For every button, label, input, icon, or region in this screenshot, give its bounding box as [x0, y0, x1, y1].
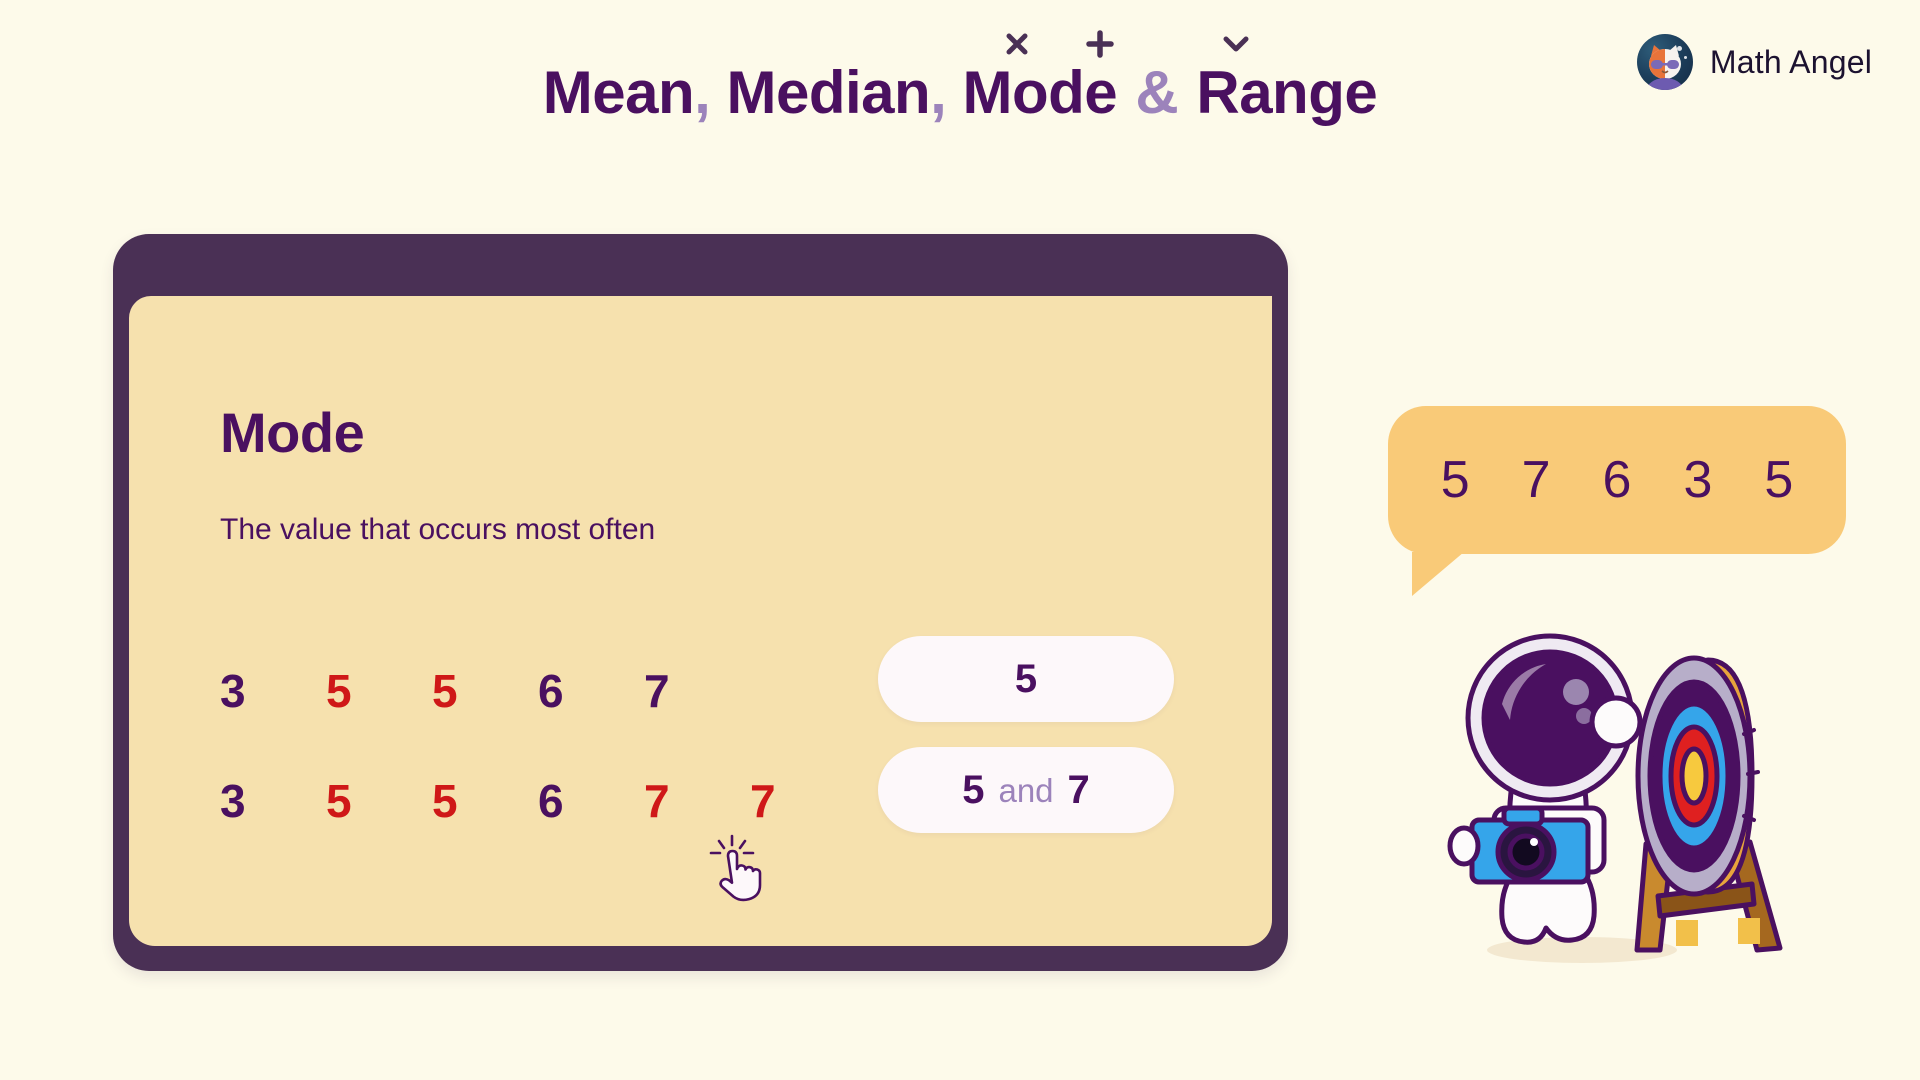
title-ampersand: & [1133, 59, 1180, 126]
number-cell: 6 [538, 778, 644, 824]
lesson-card [113, 234, 1288, 971]
bubble-digit: 7 [1522, 454, 1551, 506]
title-comma-2: , [930, 59, 946, 126]
number-cell: 7 [750, 778, 856, 824]
title-comma-1: , [694, 59, 710, 126]
title-word-median: Median [726, 59, 930, 126]
lesson-heading: Mode [220, 400, 364, 465]
lesson-definition: The value that occurs most often [220, 513, 655, 547]
plus-icon [1084, 28, 1116, 60]
answer-value: 5 [1015, 659, 1037, 699]
brand-logo[interactable]: Math Angel [1637, 34, 1872, 90]
answer-pill[interactable]: 5 and 7 [878, 747, 1174, 833]
bubble-digit: 3 [1683, 454, 1712, 506]
number-cell: 3 [220, 778, 326, 824]
number-cell: 5 [432, 778, 538, 824]
page-title: Mean, Median, Mode & Range [0, 58, 1920, 127]
number-cell: 3 [220, 668, 326, 714]
title-word-mean: Mean [543, 59, 694, 126]
tab-menu-button[interactable] [1204, 12, 1267, 75]
number-rows: 3 5 5 6 7 3 5 5 6 7 7 [220, 636, 856, 856]
chevron-down-icon [1219, 27, 1253, 61]
answer-pills: 5 5 and 7 [878, 636, 1174, 858]
astronaut-with-camera-and-target-icon [1432, 612, 1792, 972]
close-icon [1002, 29, 1032, 59]
answer-pill[interactable]: 5 [878, 636, 1174, 722]
bubble-digit: 5 [1441, 454, 1470, 506]
tab-close-button[interactable] [985, 12, 1048, 75]
answer-value: 7 [1068, 770, 1090, 810]
number-cell: 6 [538, 668, 644, 714]
bubble-digit: 5 [1764, 454, 1793, 506]
cat-astronaut-logo-icon [1637, 34, 1693, 90]
number-cell: 5 [326, 668, 432, 714]
brand-name: Math Angel [1710, 44, 1872, 81]
bubble-digit: 6 [1603, 454, 1632, 506]
answer-conjunction: and [998, 774, 1053, 807]
number-cell: 7 [644, 668, 750, 714]
speech-bubble-tail [1412, 552, 1464, 596]
number-cell: 7 [644, 778, 750, 824]
new-tab-button[interactable] [1068, 12, 1131, 75]
number-cell: 5 [432, 668, 538, 714]
number-cell: 5 [326, 778, 432, 824]
click-hand-cursor-icon [706, 834, 762, 906]
answer-value: 5 [962, 770, 984, 810]
speech-bubble: 5 7 6 3 5 [1388, 406, 1846, 554]
slide-root: Mean, Median, Mode & Range Math Angel [0, 0, 1920, 1080]
number-row: 3 5 5 6 7 [220, 636, 856, 746]
